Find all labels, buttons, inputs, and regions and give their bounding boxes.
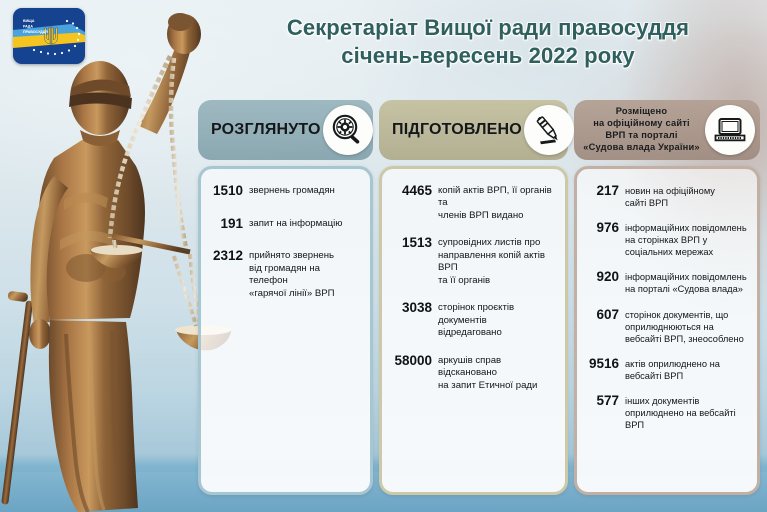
stat-label: інформаційних повідомлень на сторінках В… bbox=[625, 220, 748, 258]
stat-number: 1513 bbox=[388, 235, 438, 252]
column-header-label-prepared: ПІДГОТОВЛЕНО bbox=[379, 121, 524, 138]
stat-label: супровідних листів про направлення копій… bbox=[438, 235, 556, 287]
stat-row: 1510 звернень громадян bbox=[207, 183, 361, 200]
infographic-poster: ВИЩА РАДА ПРАВОСУДДЯ Секретаріат Вищої р… bbox=[0, 0, 767, 512]
stat-row: 577 інших документів оприлюднено на вебс… bbox=[583, 393, 748, 431]
stat-row: 9516 актів оприлюднено на вебсайті ВРП bbox=[583, 356, 748, 382]
column-header-label-published: Розміщено на офіційному сайті ВРП та пор… bbox=[574, 106, 705, 154]
stat-label: прийнято звернень від громадян на телефо… bbox=[249, 248, 361, 300]
column-header-reviewed: РОЗГЛЯНУТО bbox=[198, 100, 373, 160]
stat-label: аркушів справ відскановано на запит Етич… bbox=[438, 353, 556, 392]
logo-line-1: ВИЩА bbox=[23, 19, 35, 23]
column-prepared: ПІДГОТОВЛЕНО bbox=[379, 100, 568, 495]
stat-row: 2312 прийнято звернень від громадян на т… bbox=[207, 248, 361, 300]
stat-number: 607 bbox=[583, 307, 625, 324]
stat-number: 2312 bbox=[207, 248, 249, 265]
stat-number: 976 bbox=[583, 220, 625, 237]
stat-label: копій актів ВРП, її органів та членів ВР… bbox=[438, 183, 556, 222]
columns-container: РОЗГЛЯНУТО bbox=[198, 100, 760, 495]
stat-number: 217 bbox=[583, 183, 625, 200]
stat-number: 3038 bbox=[388, 300, 438, 317]
stat-row: 217 новин на офіційному сайті ВРП bbox=[583, 183, 748, 209]
vrp-emblem-logo: ВИЩА РАДА ПРАВОСУДДЯ bbox=[13, 8, 85, 64]
stat-number: 1510 bbox=[207, 183, 249, 200]
page-title: Секретаріат Вищої ради правосуддя січень… bbox=[218, 14, 758, 70]
stat-number: 920 bbox=[583, 269, 625, 286]
stat-label: інформаційних повідомлень на порталі «Су… bbox=[625, 269, 748, 295]
stat-number: 4465 bbox=[388, 183, 438, 200]
stat-row: 3038 сторінок проєктів документів відред… bbox=[388, 300, 556, 339]
stat-row: 607 сторінок документів, що оприлюднюють… bbox=[583, 307, 748, 345]
column-body-reviewed: 1510 звернень громадян 191 запит на інфо… bbox=[198, 166, 373, 495]
pen-icon bbox=[524, 105, 574, 155]
laptop-icon bbox=[705, 105, 755, 155]
column-published: Розміщено на офіційному сайті ВРП та пор… bbox=[574, 100, 760, 495]
column-header-published: Розміщено на офіційному сайті ВРП та пор… bbox=[574, 100, 760, 160]
column-header-label-reviewed: РОЗГЛЯНУТО bbox=[198, 121, 323, 138]
stat-number: 9516 bbox=[583, 356, 625, 373]
stat-label: сторінок проєктів документів відредагова… bbox=[438, 300, 556, 339]
stat-label: інших документів оприлюднено на вебсайті… bbox=[625, 393, 748, 431]
column-body-prepared: 4465 копій актів ВРП, її органів та член… bbox=[379, 166, 568, 495]
stat-row: 191 запит на інформацію bbox=[207, 216, 361, 233]
stat-label: звернень громадян bbox=[249, 183, 361, 197]
column-body-published: 217 новин на офіційному сайті ВРП 976 ін… bbox=[574, 166, 760, 495]
stat-number: 58000 bbox=[388, 353, 438, 370]
stat-label: новин на офіційному сайті ВРП bbox=[625, 183, 748, 209]
column-header-prepared: ПІДГОТОВЛЕНО bbox=[379, 100, 568, 160]
magnifier-gear-icon bbox=[323, 105, 373, 155]
stat-number: 191 bbox=[207, 216, 249, 233]
stat-label: запит на інформацію bbox=[249, 216, 361, 230]
stat-row: 58000 аркушів справ відскановано на запи… bbox=[388, 353, 556, 392]
logo-line-2: РАДА bbox=[23, 25, 33, 29]
stat-row: 4465 копій актів ВРП, її органів та член… bbox=[388, 183, 556, 222]
stat-label: сторінок документів, що оприлюднюються н… bbox=[625, 307, 748, 345]
logo-line-3: ПРАВОСУДДЯ bbox=[23, 30, 48, 34]
stat-row: 920 інформаційних повідомлень на порталі… bbox=[583, 269, 748, 295]
stat-row: 976 інформаційних повідомлень на сторінк… bbox=[583, 220, 748, 258]
stat-number: 577 bbox=[583, 393, 625, 410]
stat-row: 1513 супровідних листів про направлення … bbox=[388, 235, 556, 287]
column-reviewed: РОЗГЛЯНУТО bbox=[198, 100, 373, 495]
stat-label: актів оприлюднено на вебсайті ВРП bbox=[625, 356, 748, 382]
